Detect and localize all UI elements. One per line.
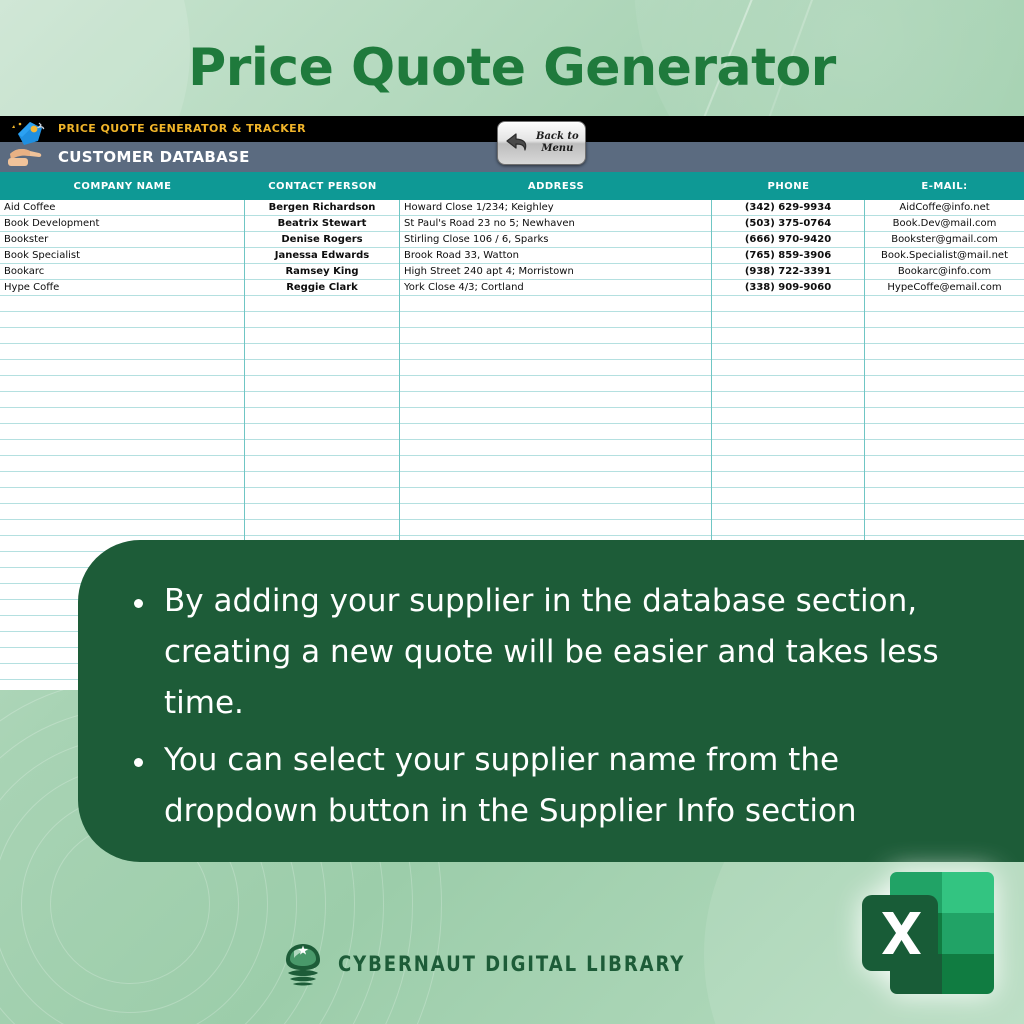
table-row-empty[interactable] <box>0 376 1024 392</box>
table-row-empty[interactable] <box>0 328 1024 344</box>
section-title-label: CUSTOMER DATABASE <box>58 148 250 166</box>
cell-empty[interactable] <box>245 392 400 408</box>
table-row-empty[interactable] <box>0 296 1024 312</box>
cell-empty[interactable] <box>712 520 865 536</box>
column-header-2: CONTACT PERSON <box>245 181 400 192</box>
cell-empty[interactable] <box>865 424 1024 440</box>
cell-email[interactable]: AidCoffe@info.net <box>865 200 1024 216</box>
cell-empty[interactable] <box>865 344 1024 360</box>
cell-empty[interactable] <box>245 408 400 424</box>
cell-contact[interactable]: Bergen Richardson <box>245 200 400 216</box>
cell-empty[interactable] <box>400 520 712 536</box>
column-header-4: PHONE <box>712 181 865 192</box>
cell-empty[interactable] <box>400 328 712 344</box>
cell-company[interactable]: Book Development <box>0 216 245 232</box>
cell-empty[interactable] <box>0 440 245 456</box>
cell-empty[interactable] <box>245 504 400 520</box>
cell-empty[interactable] <box>865 376 1024 392</box>
cell-address[interactable]: Howard Close 1/234; Keighley <box>400 200 712 216</box>
cell-address[interactable]: St Paul's Road 23 no 5; Newhaven <box>400 216 712 232</box>
cell-empty[interactable] <box>712 424 865 440</box>
app-title-label: PRICE QUOTE GENERATOR & TRACKER <box>58 122 306 135</box>
cell-empty[interactable] <box>865 408 1024 424</box>
cell-empty[interactable] <box>400 440 712 456</box>
cell-empty[interactable] <box>865 360 1024 376</box>
table-row-empty[interactable] <box>0 424 1024 440</box>
back-button-line1: Back to <box>536 131 579 143</box>
cell-empty[interactable] <box>400 424 712 440</box>
page-title: Price Quote Generator <box>0 38 1024 98</box>
cell-email[interactable]: Book.Specialist@mail.net <box>865 248 1024 264</box>
table-row-empty[interactable] <box>0 520 1024 536</box>
cell-empty[interactable] <box>865 520 1024 536</box>
cell-empty[interactable] <box>245 328 400 344</box>
cell-empty[interactable] <box>245 440 400 456</box>
cell-empty[interactable] <box>400 472 712 488</box>
cell-empty[interactable] <box>712 328 865 344</box>
cell-phone[interactable]: (666) 970-9420 <box>712 232 865 248</box>
cell-empty[interactable] <box>245 520 400 536</box>
back-to-menu-button[interactable]: Back to Menu <box>497 121 586 165</box>
table-row-empty[interactable] <box>0 408 1024 424</box>
table-row[interactable]: Book DevelopmentBeatrix StewartSt Paul's… <box>0 216 1024 232</box>
back-button-line2: Menu <box>536 143 579 155</box>
cell-empty[interactable] <box>245 488 400 504</box>
table-row-empty[interactable] <box>0 392 1024 408</box>
table-row-empty[interactable] <box>0 472 1024 488</box>
cell-contact[interactable]: Ramsey King <box>245 264 400 280</box>
cell-empty[interactable] <box>712 472 865 488</box>
cell-empty[interactable] <box>400 312 712 328</box>
cell-company[interactable]: Hype Coffe <box>0 280 245 296</box>
cell-empty[interactable] <box>400 456 712 472</box>
back-arrow-icon <box>503 128 533 158</box>
cell-empty[interactable] <box>0 392 245 408</box>
table-row-empty[interactable] <box>0 312 1024 328</box>
tips-list: By adding your supplier in the database … <box>124 576 984 837</box>
cell-empty[interactable] <box>0 360 245 376</box>
cell-empty[interactable] <box>245 296 400 312</box>
cell-empty[interactable] <box>0 344 245 360</box>
cell-empty[interactable] <box>712 456 865 472</box>
cell-empty[interactable] <box>865 392 1024 408</box>
cell-phone[interactable]: (503) 375-0764 <box>712 216 865 232</box>
cell-empty[interactable] <box>865 312 1024 328</box>
table-row[interactable]: Hype CoffeReggie ClarkYork Close 4/3; Co… <box>0 280 1024 296</box>
column-header-3: ADDRESS <box>400 181 712 192</box>
cell-empty[interactable] <box>0 312 245 328</box>
cell-empty[interactable] <box>865 472 1024 488</box>
cell-phone[interactable]: (342) 629-9934 <box>712 200 865 216</box>
cell-empty[interactable] <box>0 408 245 424</box>
cell-company[interactable]: Bookster <box>0 232 245 248</box>
table-row-empty[interactable] <box>0 504 1024 520</box>
cell-address[interactable]: Brook Road 33, Watton <box>400 248 712 264</box>
cell-empty[interactable] <box>0 328 245 344</box>
cell-email[interactable]: Bookarc@info.com <box>865 264 1024 280</box>
cell-empty[interactable] <box>0 456 245 472</box>
cell-contact[interactable]: Beatrix Stewart <box>245 216 400 232</box>
cell-empty[interactable] <box>0 488 245 504</box>
table-row[interactable]: Book SpecialistJanessa EdwardsBrook Road… <box>0 248 1024 264</box>
cell-empty[interactable] <box>400 504 712 520</box>
cell-address[interactable]: Stirling Close 106 / 6, Sparks <box>400 232 712 248</box>
cell-empty[interactable] <box>865 488 1024 504</box>
cell-empty[interactable] <box>400 488 712 504</box>
cell-empty[interactable] <box>400 296 712 312</box>
table-row-empty[interactable] <box>0 344 1024 360</box>
table-row-empty[interactable] <box>0 456 1024 472</box>
cell-empty[interactable] <box>865 296 1024 312</box>
column-header-5: E-MAIL: <box>865 181 1024 192</box>
cell-empty[interactable] <box>0 520 245 536</box>
cell-empty[interactable] <box>712 504 865 520</box>
cell-empty[interactable] <box>400 376 712 392</box>
table-row-empty[interactable] <box>0 440 1024 456</box>
cell-empty[interactable] <box>865 440 1024 456</box>
cell-empty[interactable] <box>712 488 865 504</box>
cell-empty[interactable] <box>0 504 245 520</box>
cell-email[interactable]: HypeCoffe@email.com <box>865 280 1024 296</box>
cell-email[interactable]: Bookster@gmail.com <box>865 232 1024 248</box>
cell-empty[interactable] <box>400 360 712 376</box>
astronaut-helmet-icon <box>282 942 324 986</box>
cell-empty[interactable] <box>712 408 865 424</box>
cell-address[interactable]: York Close 4/3; Cortland <box>400 280 712 296</box>
cell-empty[interactable] <box>865 328 1024 344</box>
cell-empty[interactable] <box>400 344 712 360</box>
cell-empty[interactable] <box>245 360 400 376</box>
cell-empty[interactable] <box>400 392 712 408</box>
cell-address[interactable]: High Street 240 apt 4; Morristown <box>400 264 712 280</box>
cell-empty[interactable] <box>712 296 865 312</box>
table-header-row: COMPANY NAMECONTACT PERSONADDRESSPHONEE-… <box>0 172 1024 200</box>
cell-empty[interactable] <box>712 312 865 328</box>
cell-empty[interactable] <box>245 312 400 328</box>
cell-empty[interactable] <box>245 456 400 472</box>
cell-company[interactable]: Book Specialist <box>0 248 245 264</box>
cell-empty[interactable] <box>712 360 865 376</box>
cell-contact[interactable]: Reggie Clark <box>245 280 400 296</box>
table-row[interactable]: BooksterDenise RogersStirling Close 106 … <box>0 232 1024 248</box>
tip-item: By adding your supplier in the database … <box>124 576 984 729</box>
cell-empty[interactable] <box>0 424 245 440</box>
cell-email[interactable]: Book.Dev@mail.com <box>865 216 1024 232</box>
column-header-1: COMPANY NAME <box>0 181 245 192</box>
tips-callout: By adding your supplier in the database … <box>78 540 1024 862</box>
cell-empty[interactable] <box>712 392 865 408</box>
table-row[interactable]: BookarcRamsey KingHigh Street 240 apt 4;… <box>0 264 1024 280</box>
brand-name: CYBERNAUT DIGITAL LIBRARY <box>338 952 685 976</box>
cell-empty[interactable] <box>0 296 245 312</box>
cell-company[interactable]: Aid Coffee <box>0 200 245 216</box>
cell-empty[interactable] <box>400 408 712 424</box>
cell-empty[interactable] <box>712 344 865 360</box>
price-tag-hand-icon <box>8 120 52 168</box>
cell-empty[interactable] <box>0 472 245 488</box>
cell-empty[interactable] <box>865 504 1024 520</box>
cell-contact[interactable]: Denise Rogers <box>245 232 400 248</box>
cell-empty[interactable] <box>712 376 865 392</box>
cell-empty[interactable] <box>245 424 400 440</box>
cell-contact[interactable]: Janessa Edwards <box>245 248 400 264</box>
tip-item: You can select your supplier name from t… <box>124 735 984 837</box>
table-row-empty[interactable] <box>0 488 1024 504</box>
cell-company[interactable]: Bookarc <box>0 264 245 280</box>
cell-empty[interactable] <box>245 472 400 488</box>
cell-phone[interactable]: (338) 909-9060 <box>712 280 865 296</box>
table-row[interactable]: Aid CoffeeBergen RichardsonHoward Close … <box>0 200 1024 216</box>
cell-empty[interactable] <box>245 376 400 392</box>
cell-empty[interactable] <box>0 376 245 392</box>
microsoft-excel-icon <box>852 862 1004 1002</box>
table-row-empty[interactable] <box>0 360 1024 376</box>
cell-phone[interactable]: (765) 859-3906 <box>712 248 865 264</box>
cell-empty[interactable] <box>245 344 400 360</box>
cell-empty[interactable] <box>865 456 1024 472</box>
cell-phone[interactable]: (938) 722-3391 <box>712 264 865 280</box>
cell-empty[interactable] <box>712 440 865 456</box>
